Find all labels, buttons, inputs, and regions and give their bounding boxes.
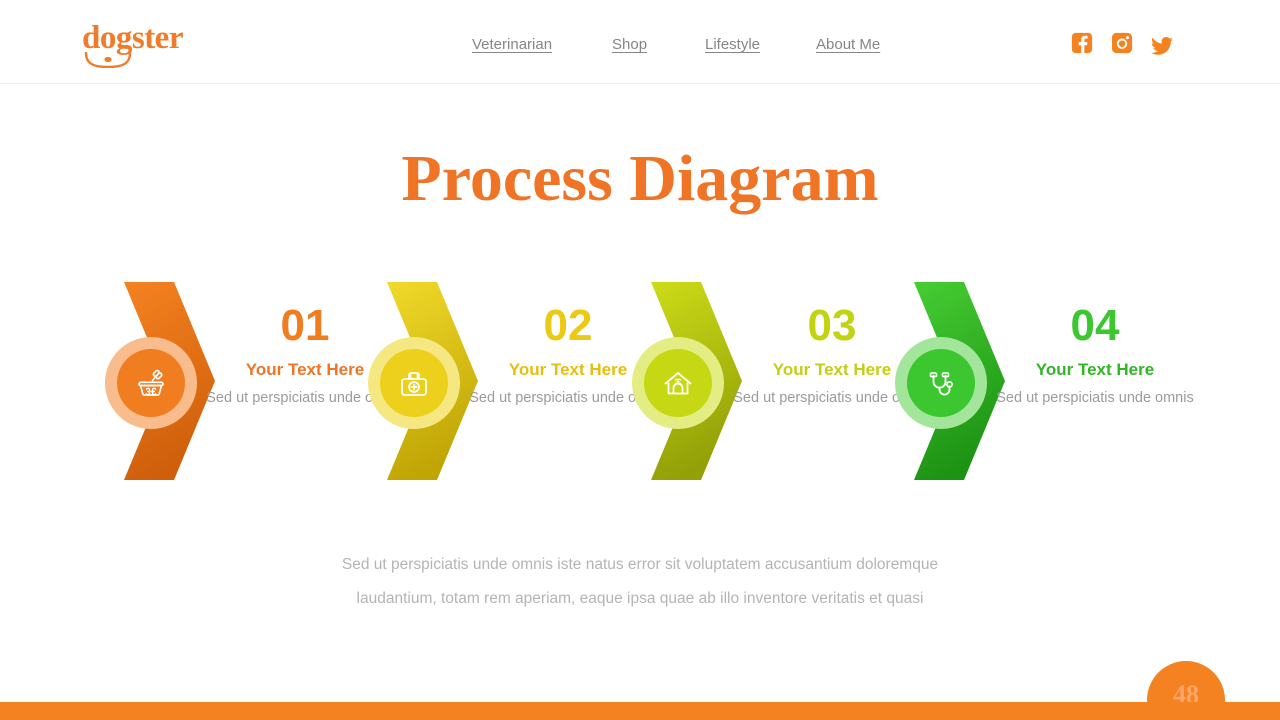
facebook-icon[interactable]	[1071, 32, 1093, 54]
logo-text[interactable]: dogster	[82, 22, 183, 55]
main-navigation: Veterinarian Shop Lifestyle About Me	[455, 36, 925, 60]
site-header: dogster Veterinarian Shop Lifestyle Abou…	[0, 0, 1280, 84]
body-paragraph: Sed ut perspiciatis unde omnis iste natu…	[320, 548, 960, 615]
step-text-04: 04 Your Text Here Sed ut perspiciatis un…	[960, 304, 1230, 410]
step-title-04: Your Text Here	[960, 361, 1230, 380]
page-title: Process Diagram	[0, 141, 1280, 217]
twitter-icon[interactable]	[1151, 35, 1173, 57]
dog-house-icon	[660, 365, 696, 401]
social-links	[1068, 32, 1178, 60]
nav-item-lifestyle[interactable]: Lifestyle	[705, 36, 760, 53]
process-step-04[interactable]: 04 Your Text Here Sed ut perspiciatis un…	[900, 282, 1230, 482]
step-description-04: Sed ut perspiciatis unde omnis	[960, 387, 1230, 410]
process-steps: 01 Your Text Here Sed ut perspiciatis un…	[0, 282, 1280, 482]
nav-item-veterinarian[interactable]: Veterinarian	[472, 36, 552, 53]
nav-item-shop[interactable]: Shop	[612, 36, 647, 53]
stethoscope-icon	[923, 365, 959, 401]
bottom-bar	[0, 702, 1280, 720]
medical-bag-icon	[396, 365, 432, 401]
dog-muzzle-icon	[84, 52, 132, 68]
dog-bowl-icon	[133, 365, 169, 401]
nav-item-about-me[interactable]: About Me	[816, 36, 880, 53]
instagram-icon[interactable]	[1111, 32, 1133, 54]
step-number-04: 04	[960, 304, 1230, 348]
